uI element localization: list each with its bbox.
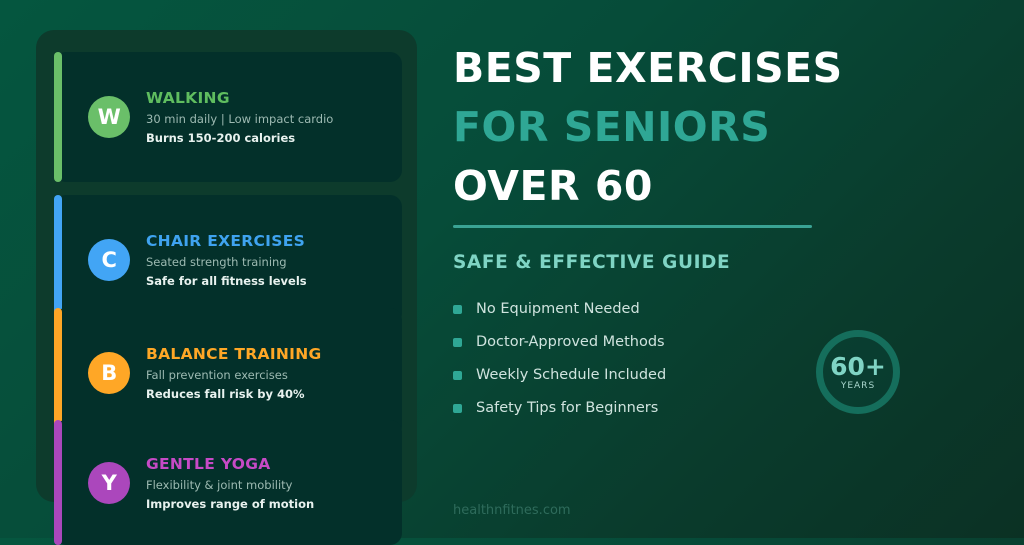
card-text-gentle-yoga: GENTLE YOGA Flexibility & joint mobility… xyxy=(146,455,314,511)
accent-bar-walking xyxy=(54,52,62,182)
bullet-square-icon xyxy=(453,338,462,347)
bullet-square-icon xyxy=(453,404,462,413)
accent-bar-chair-exercises xyxy=(54,195,62,325)
content-column: BEST EXERCISES FOR SENIORS OVER 60 SAFE … xyxy=(453,48,993,433)
exercise-cards-panel: W WALKING 30 min daily | Low impact card… xyxy=(36,30,417,502)
card-detail: Improves range of motion xyxy=(146,497,314,511)
card-detail: Reduces fall risk by 40% xyxy=(146,387,322,401)
card-detail: Safe for all fitness levels xyxy=(146,274,307,288)
bullet-square-icon xyxy=(453,305,462,314)
list-item-label: Doctor-Approved Methods xyxy=(476,334,665,350)
section-subtitle: SAFE & EFFECTIVE GUIDE xyxy=(453,252,993,273)
card-badge-balance-training: B xyxy=(88,352,130,394)
card-badge-letter: C xyxy=(102,248,117,272)
card-detail: Burns 150-200 calories xyxy=(146,131,333,145)
heading-divider xyxy=(453,225,812,228)
list-item: Doctor-Approved Methods xyxy=(453,334,993,350)
exercise-card-chair-exercises[interactable]: C CHAIR EXERCISES Seated strength traini… xyxy=(54,195,402,325)
accent-bar-balance-training xyxy=(54,308,62,438)
footer-website-url: healthnfitnes.com xyxy=(453,503,571,518)
card-subtitle: 30 min daily | Low impact cardio xyxy=(146,112,333,126)
badge-unit-label: YEARS xyxy=(841,381,875,391)
card-subtitle: Fall prevention exercises xyxy=(146,368,322,382)
card-text-balance-training: BALANCE TRAINING Fall prevention exercis… xyxy=(146,345,322,401)
card-subtitle: Flexibility & joint mobility xyxy=(146,478,314,492)
exercise-card-gentle-yoga[interactable]: Y GENTLE YOGA Flexibility & joint mobili… xyxy=(54,420,402,545)
headline-line-3: OVER 60 xyxy=(453,166,993,207)
headline-line-1: BEST EXERCISES xyxy=(453,48,993,89)
card-title: GENTLE YOGA xyxy=(146,455,314,473)
card-badge-walking: W xyxy=(88,96,130,138)
card-badge-letter: B xyxy=(101,361,117,385)
list-item: No Equipment Needed xyxy=(453,301,993,317)
list-item-label: Safety Tips for Beginners xyxy=(476,400,658,416)
list-item-label: No Equipment Needed xyxy=(476,301,640,317)
headline-line-2: FOR SENIORS xyxy=(453,107,993,148)
card-badge-gentle-yoga: Y xyxy=(88,462,130,504)
card-text-chair-exercises: CHAIR EXERCISES Seated strength training… xyxy=(146,232,307,288)
accent-bar-gentle-yoga xyxy=(54,420,62,545)
card-title: BALANCE TRAINING xyxy=(146,345,322,363)
card-title: CHAIR EXERCISES xyxy=(146,232,307,250)
exercise-card-balance-training[interactable]: B BALANCE TRAINING Fall prevention exerc… xyxy=(54,308,402,438)
feature-list: No Equipment Needed Doctor-Approved Meth… xyxy=(453,301,993,416)
list-item-label: Weekly Schedule Included xyxy=(476,367,666,383)
card-badge-letter: W xyxy=(98,105,121,129)
bullet-square-icon xyxy=(453,371,462,380)
list-item: Weekly Schedule Included xyxy=(453,367,993,383)
card-badge-chair-exercises: C xyxy=(88,239,130,281)
age-badge: 60+ YEARS xyxy=(816,330,900,414)
exercise-card-walking[interactable]: W WALKING 30 min daily | Low impact card… xyxy=(54,52,402,182)
page-title: BEST EXERCISES FOR SENIORS OVER 60 xyxy=(453,48,993,207)
card-title: WALKING xyxy=(146,89,333,107)
list-item: Safety Tips for Beginners xyxy=(453,400,993,416)
card-subtitle: Seated strength training xyxy=(146,255,307,269)
card-badge-letter: Y xyxy=(102,471,117,495)
badge-number: 60+ xyxy=(830,354,886,379)
card-text-walking: WALKING 30 min daily | Low impact cardio… xyxy=(146,89,333,145)
